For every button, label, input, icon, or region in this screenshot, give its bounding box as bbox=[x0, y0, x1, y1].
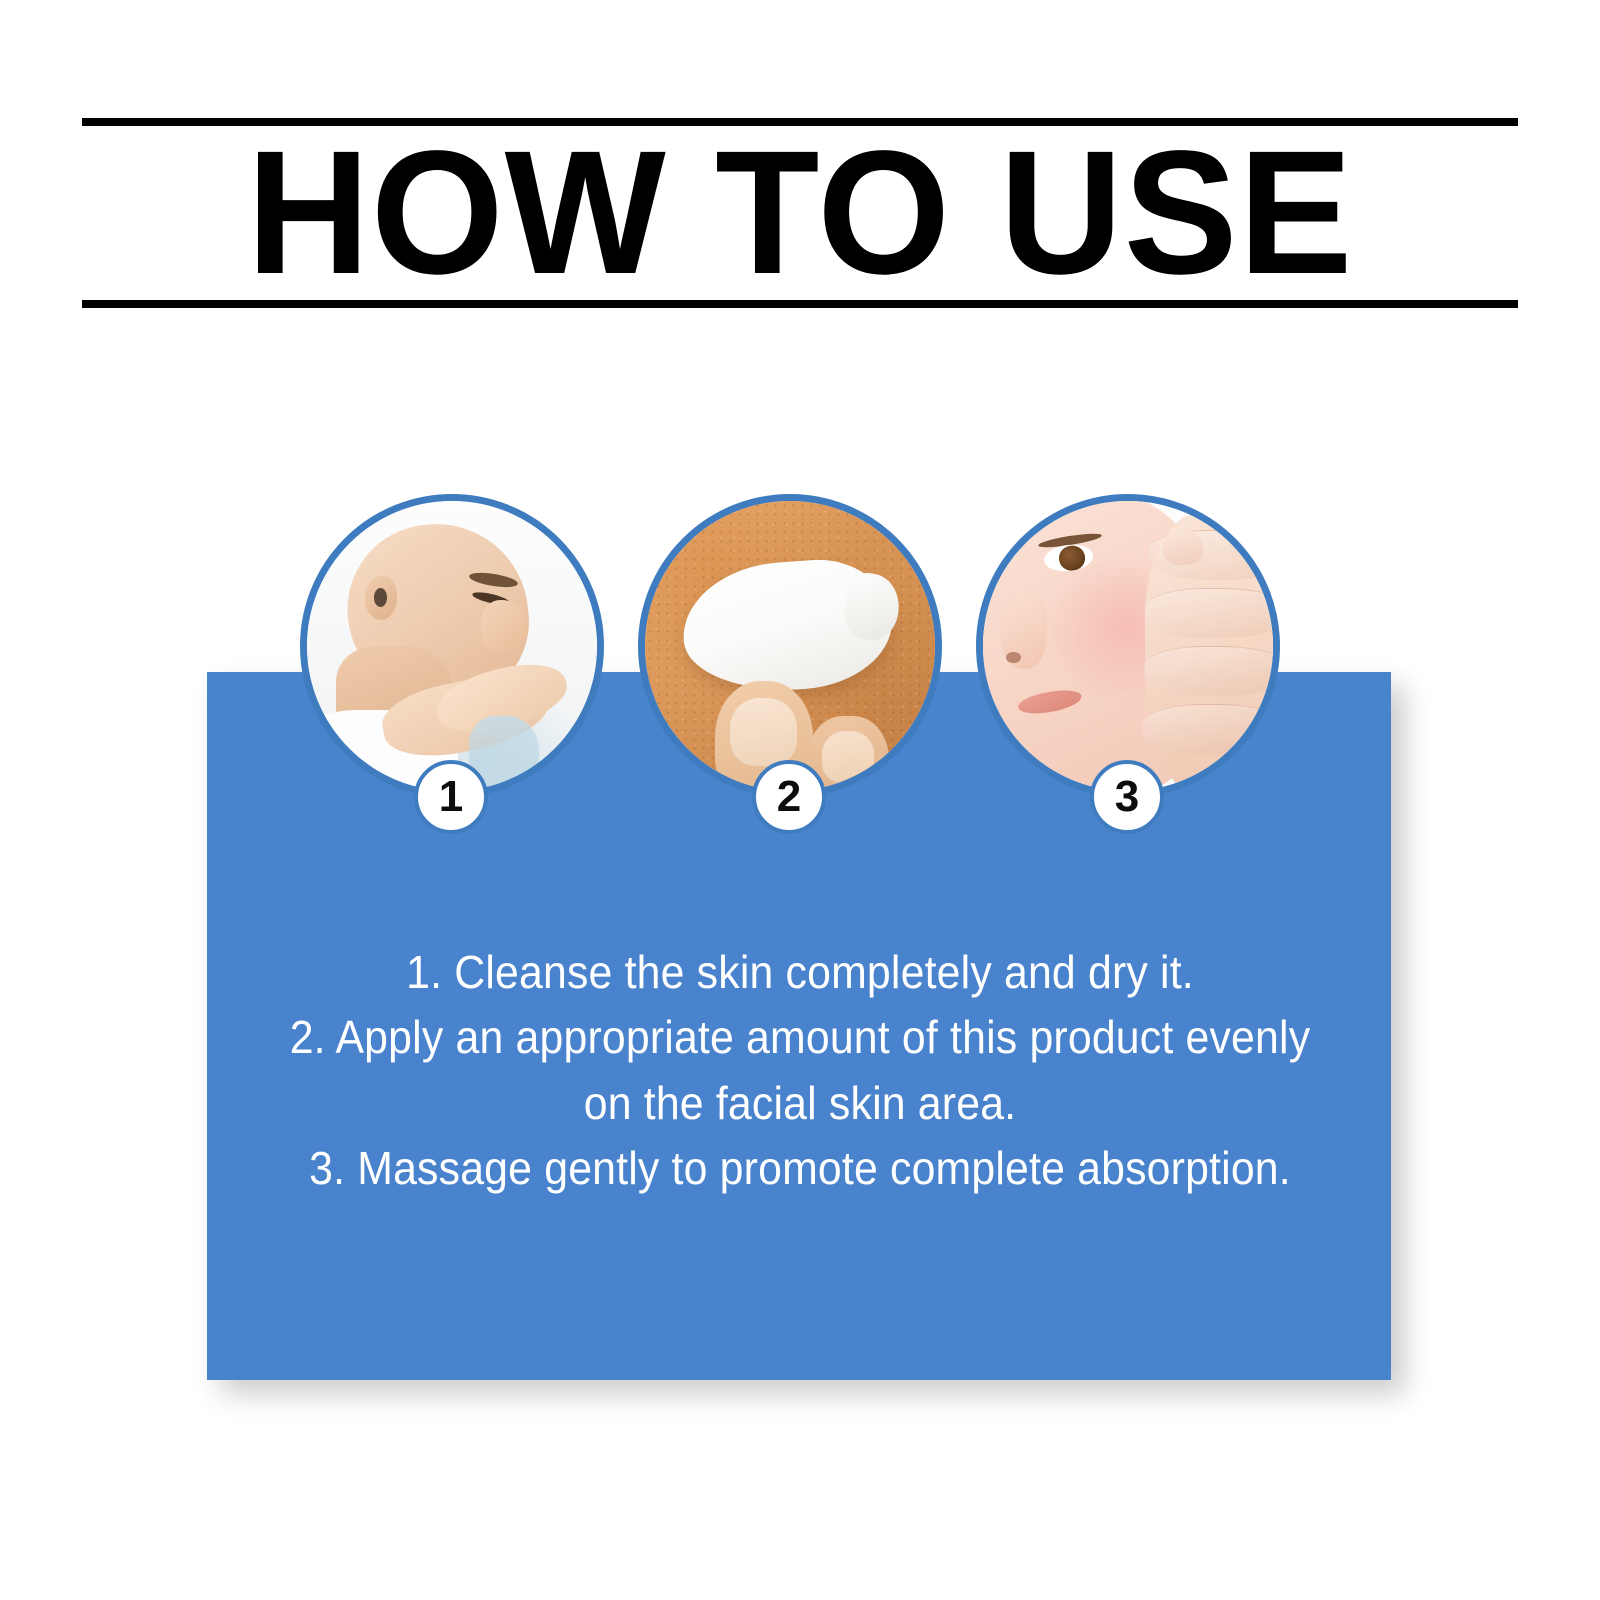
face-wash-photo bbox=[300, 494, 604, 798]
title-rule-bottom bbox=[82, 300, 1518, 308]
page-title: HOW TO USE bbox=[104, 118, 1497, 308]
step-badge-1: 1 bbox=[414, 760, 488, 834]
step-card-2[interactable]: 2 bbox=[638, 494, 942, 798]
ear-shape bbox=[365, 576, 397, 620]
finger-shape-3 bbox=[1144, 646, 1280, 696]
instruction-line-2: 2. Apply an appropriate amount of this p… bbox=[270, 1005, 1330, 1070]
fingernail-shape bbox=[1163, 530, 1202, 565]
steps-row: 1 2 bbox=[300, 494, 1280, 854]
instruction-text-block: 1. Cleanse the skin completely and dry i… bbox=[270, 940, 1330, 1201]
instruction-line-3: on the facial skin area. bbox=[270, 1071, 1330, 1136]
hand-shape bbox=[1145, 513, 1280, 798]
header-banner: HOW TO USE bbox=[82, 118, 1518, 308]
step-card-3[interactable]: 3 bbox=[976, 494, 1280, 798]
face-massage-photo bbox=[976, 494, 1280, 798]
nostril-shape bbox=[1006, 652, 1021, 664]
cream-swatch-photo bbox=[638, 494, 942, 798]
step-badge-3: 3 bbox=[1090, 760, 1164, 834]
finger-shape-4 bbox=[1142, 704, 1280, 754]
step-badge-2: 2 bbox=[752, 760, 826, 834]
instruction-line-1: 1. Cleanse the skin completely and dry i… bbox=[270, 940, 1330, 1005]
finger-shape-2 bbox=[1145, 588, 1280, 638]
step-card-1[interactable]: 1 bbox=[300, 494, 604, 798]
instruction-line-4: 3. Massage gently to promote complete ab… bbox=[270, 1136, 1330, 1201]
